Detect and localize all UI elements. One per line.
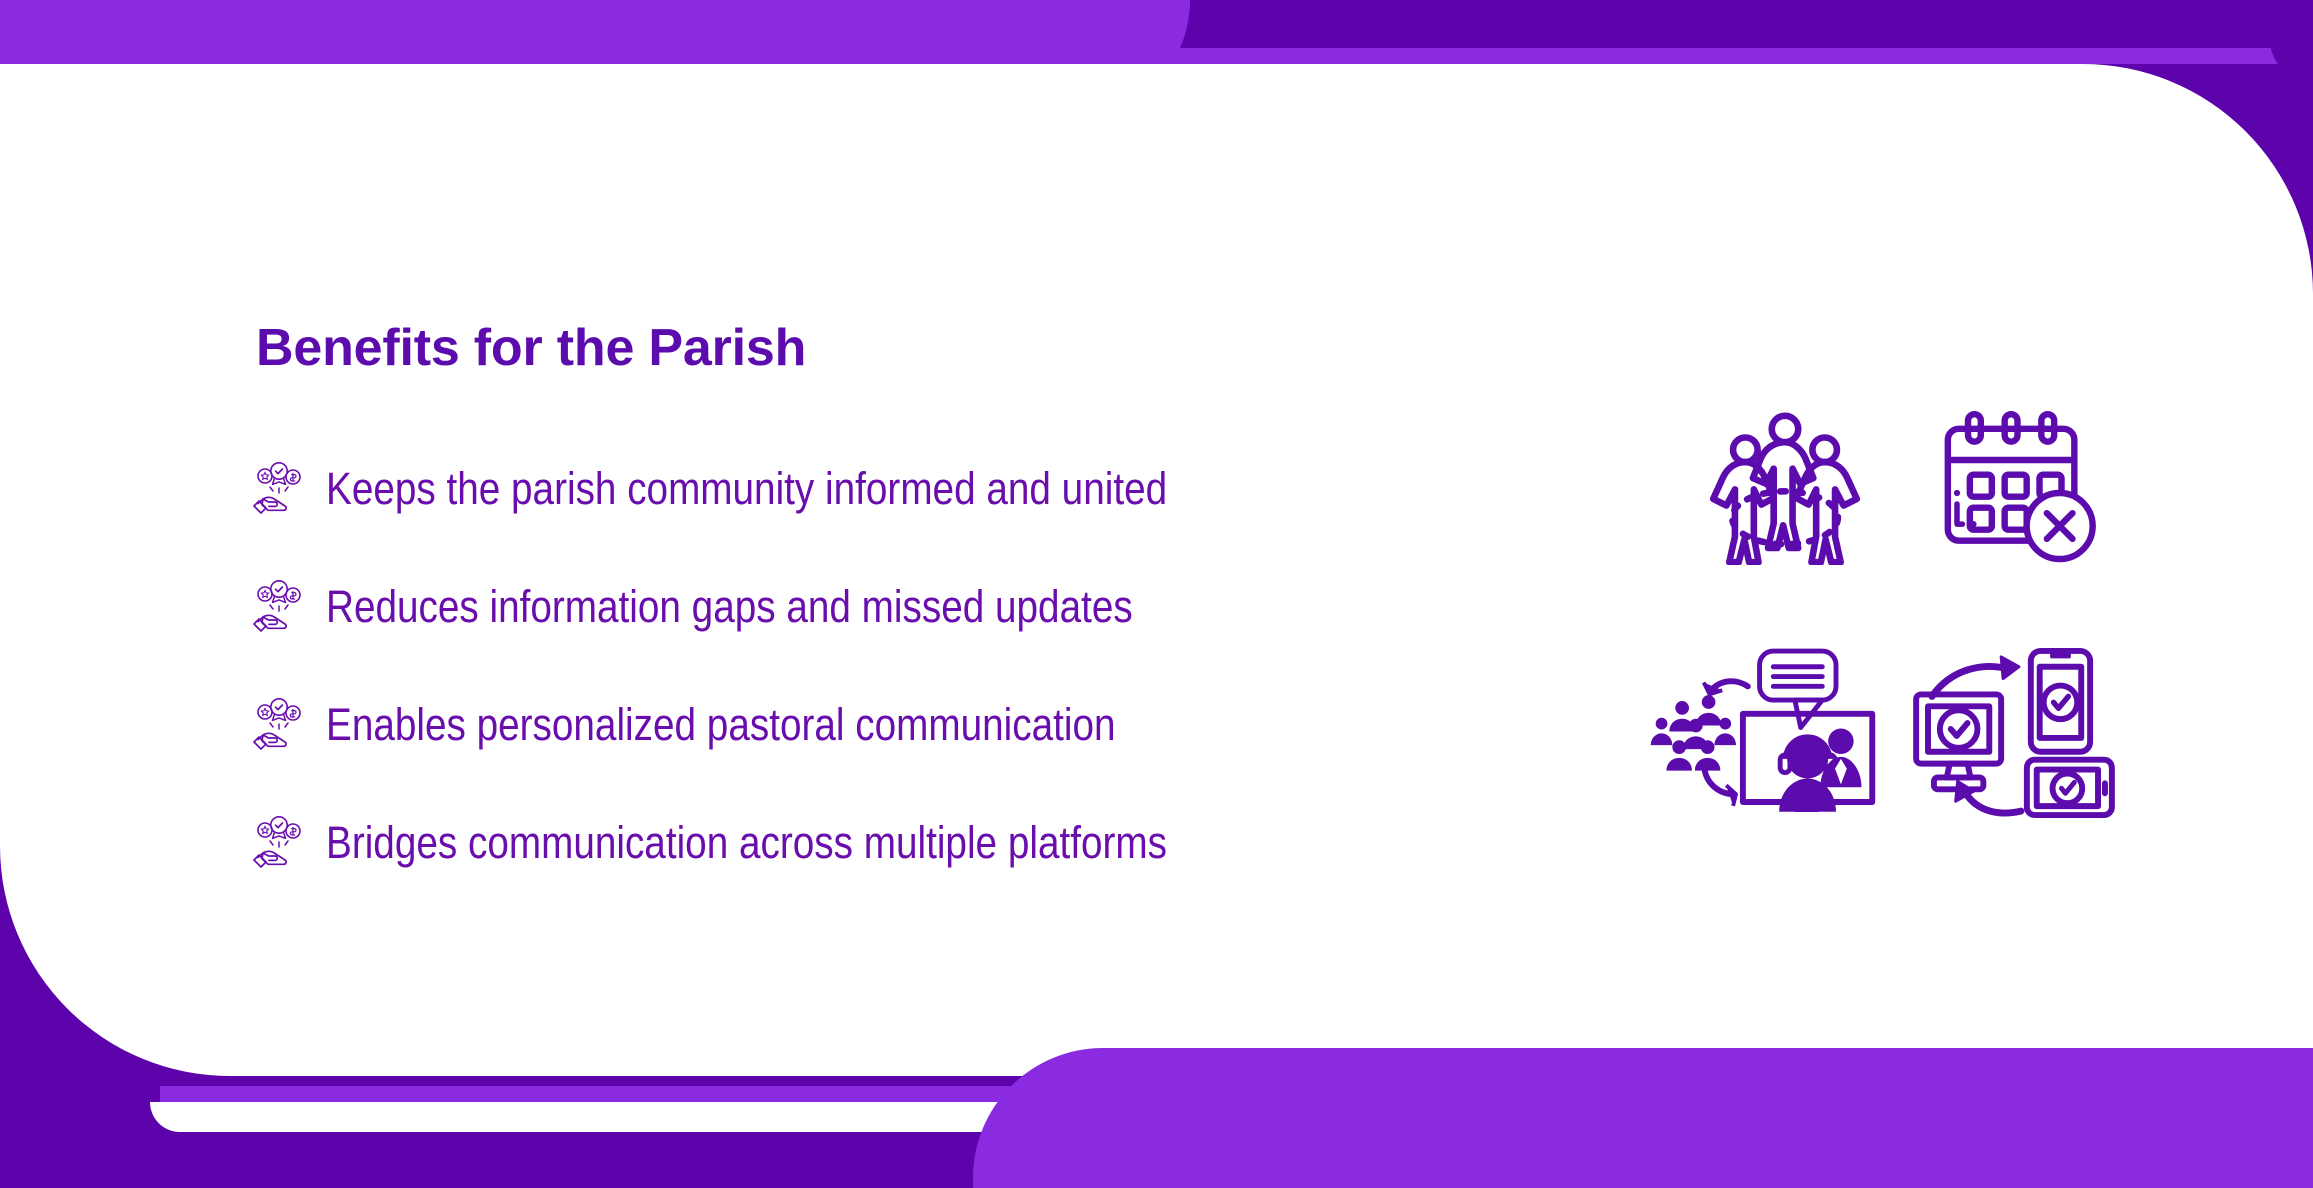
list-item-label: Enables personalized pastoral communicat… [326, 702, 1116, 747]
webinar-audience-broadcast-icon [1640, 645, 1885, 812]
page-title: Benefits for the Parish [256, 318, 806, 378]
hand-holding-badges-icon [250, 813, 308, 871]
community-people-celebrating-icon [1700, 395, 1870, 565]
list-item-label: Reduces information gaps and missed upda… [326, 584, 1133, 629]
slide-content: Benefits for the Parish [0, 0, 2313, 1188]
cross-platform-devices-check-icon [1910, 645, 2118, 818]
list-item: Enables personalized pastoral communicat… [250, 694, 1600, 754]
hand-holding-badges-icon [250, 459, 308, 517]
slide-canvas: Benefits for the Parish [0, 0, 2313, 1188]
list-item: Keeps the parish community informed and … [250, 458, 1600, 518]
hand-holding-badges-icon [250, 695, 308, 753]
list-item-label: Bridges communication across multiple pl… [326, 820, 1167, 865]
list-item: Reduces information gaps and missed upda… [250, 576, 1600, 636]
hand-holding-badges-icon [250, 577, 308, 635]
list-item: Bridges communication across multiple pl… [250, 812, 1600, 872]
calendar-cancelled-event-icon [1935, 405, 2100, 570]
list-item-label: Keeps the parish community informed and … [326, 466, 1167, 511]
benefits-list: Keeps the parish community informed and … [250, 458, 1600, 930]
